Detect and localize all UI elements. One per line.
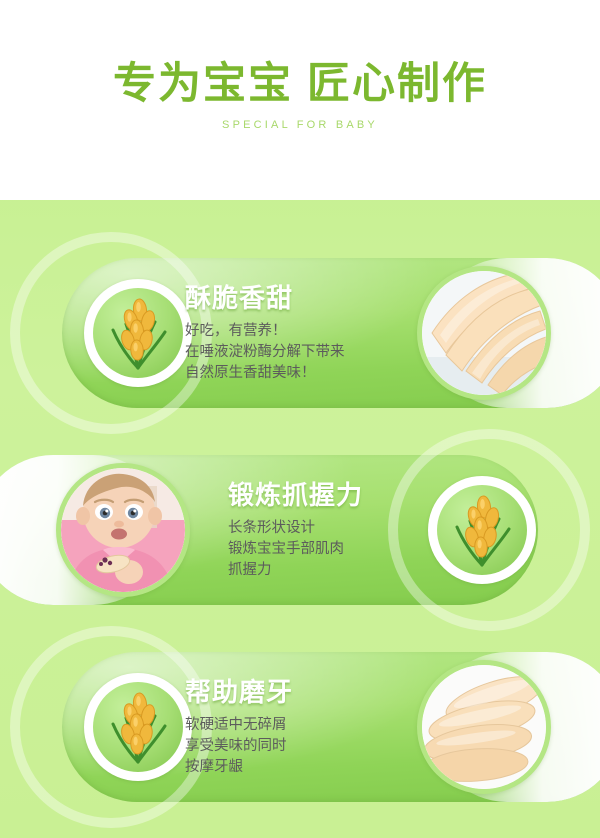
feature-card-teething-help[interactable]: 帮助磨牙 软硬适中无碎屑 享受美味的同时 按摩牙龈 <box>62 652 600 802</box>
header-cloud-band: 专为宝宝 匠心制作 SPECIAL FOR BABY <box>0 0 600 200</box>
wheat-icon-medallion <box>84 279 192 387</box>
feature-card-grip-training[interactable]: 锻炼抓握力 长条形状设计 锻炼宝宝手部肌肉 抓握力 <box>0 455 538 605</box>
card-text-block: 帮助磨牙 软硬适中无碎屑 享受美味的同时 按摩牙龈 <box>185 676 293 778</box>
page-subtitle: SPECIAL FOR BABY <box>0 119 600 131</box>
wheat-icon-medallion <box>428 476 536 584</box>
page-title: 专为宝宝 匠心制作 <box>0 58 600 110</box>
card-title: 酥脆香甜 <box>185 282 345 314</box>
card-line: 软硬适中无碎屑 <box>185 715 293 736</box>
card-line: 按摩牙龈 <box>185 757 293 778</box>
stacked-rice-crackers-photo <box>417 660 551 794</box>
card-title: 帮助磨牙 <box>185 676 293 708</box>
wheat-icon <box>93 288 183 378</box>
product-photo-graphic <box>422 665 546 789</box>
card-text-block: 酥脆香甜 好吃，有营养！ 在唾液淀粉酶分解下带来 自然原生香甜美味！ <box>185 282 345 384</box>
card-description: 软硬适中无碎屑 享受美味的同时 按摩牙龈 <box>185 715 293 778</box>
card-description: 好吃，有营养！ 在唾液淀粉酶分解下带来 自然原生香甜美味！ <box>185 321 345 384</box>
baby-eating-biscuit-photo <box>56 463 190 597</box>
wheat-icon <box>437 485 527 575</box>
wheat-icon <box>93 682 183 772</box>
card-title: 锻炼抓握力 <box>228 479 363 511</box>
product-photo-graphic <box>422 271 546 395</box>
rice-cracker-sticks-photo <box>417 266 551 400</box>
card-line: 自然原生香甜美味！ <box>185 363 345 384</box>
card-line: 享受美味的同时 <box>185 736 293 757</box>
feature-card-crispy-sweet[interactable]: 酥脆香甜 好吃，有营养！ 在唾液淀粉酶分解下带来 自然原生香甜美味！ <box>62 258 600 408</box>
baby-photo-graphic <box>61 468 185 592</box>
card-line: 好吃，有营养！ <box>185 321 345 342</box>
card-description: 长条形状设计 锻炼宝宝手部肌肉 抓握力 <box>228 518 363 581</box>
card-line: 锻炼宝宝手部肌肉 <box>228 539 363 560</box>
card-line: 在唾液淀粉酶分解下带来 <box>185 342 345 363</box>
wheat-icon-medallion <box>84 673 192 781</box>
card-line: 长条形状设计 <box>228 518 363 539</box>
card-text-block: 锻炼抓握力 长条形状设计 锻炼宝宝手部肌肉 抓握力 <box>228 479 363 581</box>
card-line: 抓握力 <box>228 560 363 581</box>
